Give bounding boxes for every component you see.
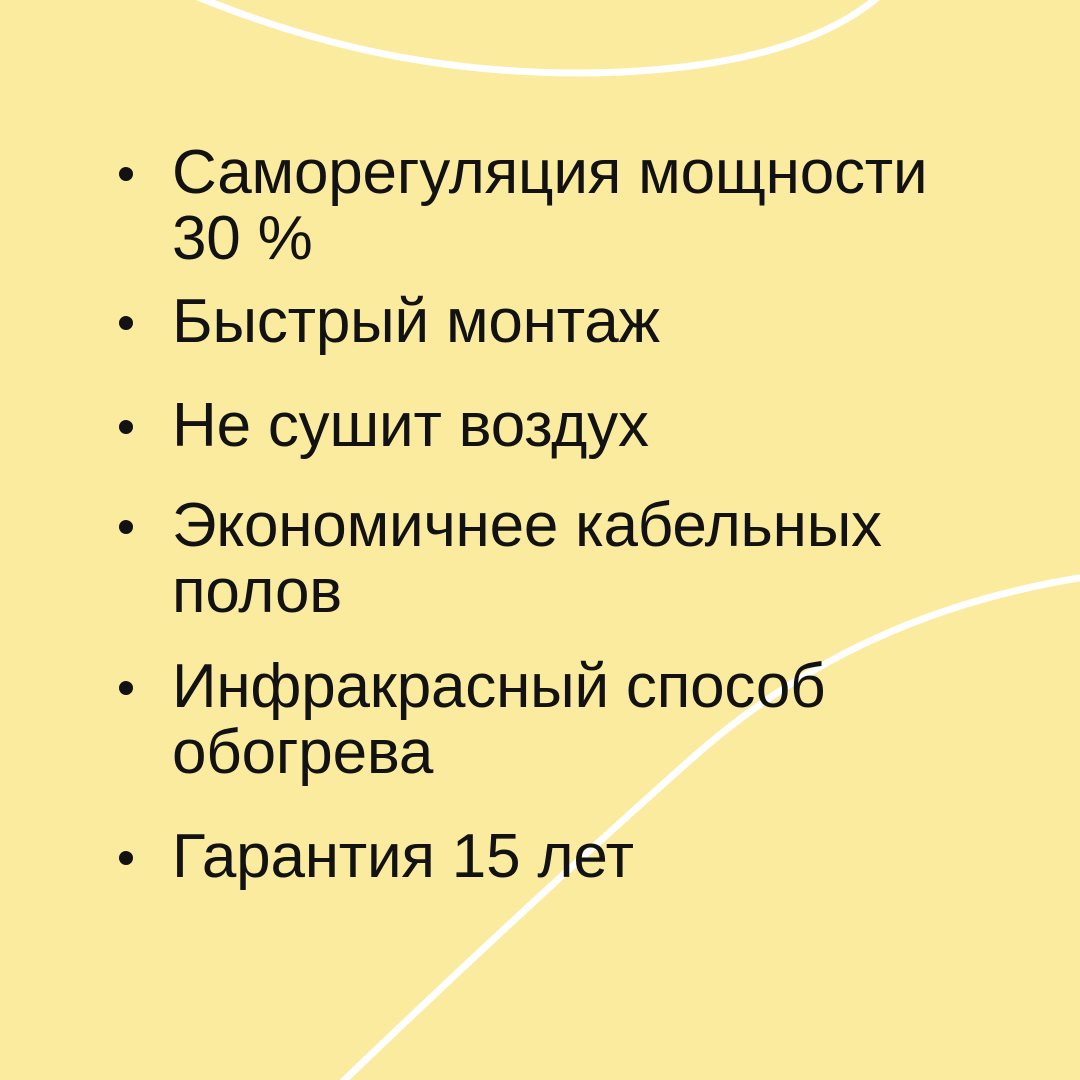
list-item-label: Инфракрасный способ обогрева — [172, 654, 950, 786]
list-item: Экономичнее кабельных полов — [0, 493, 1080, 625]
bullet-dot-icon — [119, 520, 133, 534]
bullet-dot-icon — [119, 851, 133, 865]
bullet-dot-icon — [119, 167, 133, 181]
list-item: Не сушит воздух — [0, 393, 779, 459]
bullet-dot-icon — [119, 316, 133, 330]
list-item: Саморегуляция мощности 30 % — [0, 140, 1080, 272]
list-item-label: Саморегуляция мощности 30 % — [172, 140, 950, 272]
bullet-dot-icon — [119, 681, 133, 695]
list-item-label: Гарантия 15 лет — [172, 824, 634, 890]
list-item-label: Не сушит воздух — [172, 393, 649, 459]
bullet-dot-icon — [119, 420, 133, 434]
list-item: Быстрый монтаж — [0, 289, 790, 355]
top-arc-swoosh — [172, 0, 892, 73]
slide-canvas: Саморегуляция мощности 30 % Быстрый монт… — [0, 0, 1080, 1080]
list-item-label: Экономичнее кабельных полов — [172, 493, 950, 625]
list-item: Гарантия 15 лет — [0, 824, 764, 890]
list-item: Инфракрасный способ обогрева — [0, 654, 1080, 786]
list-item-label: Быстрый монтаж — [172, 289, 660, 355]
